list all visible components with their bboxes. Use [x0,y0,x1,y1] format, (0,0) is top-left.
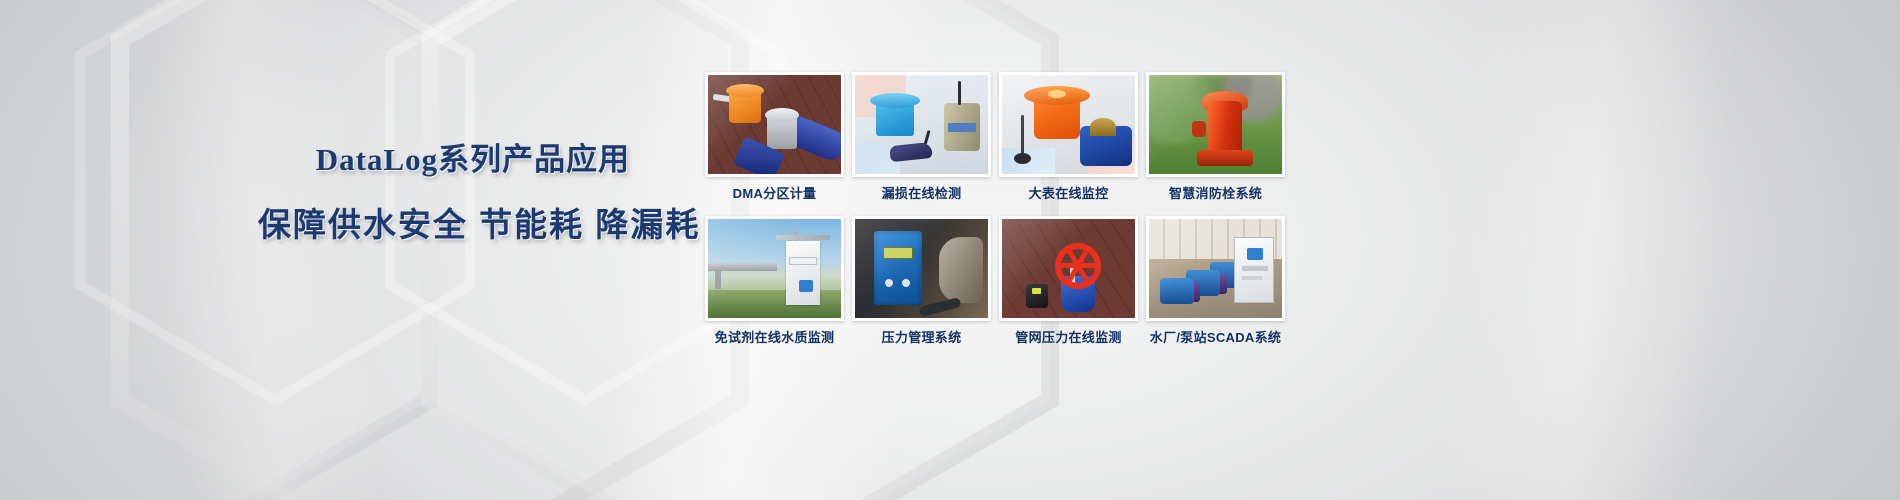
caption-scada-system: 水厂/泵站SCADA系统 [1150,329,1281,346]
grid-cell-scada-system[interactable]: 水厂/泵站SCADA系统 [1146,216,1285,346]
image-dma-metering [708,75,841,174]
pump-shape-1 [1160,278,1194,304]
caption-reagent-free-water-quality: 免试剂在线水质监测 [715,329,835,346]
thumbnail-smart-hydrant[interactable] [1146,72,1285,177]
cabinet-label-shape [1242,266,1268,271]
caption-leak-detection: 漏损在线检测 [882,185,962,202]
cabinet-sublabel-shape [1242,276,1262,280]
blue-control-panel-shape [874,231,922,305]
bridge-shape [708,263,777,272]
orange-sensor-cap-shape [729,89,761,123]
cabinet-logo-shape [799,280,813,292]
caption-pressure-management: 压力管理系统 [882,329,962,346]
image-smart-hydrant [1149,75,1282,174]
thumbnail-reagent-free-water-quality[interactable] [705,216,844,321]
image-scada-system [1149,219,1282,318]
image-network-pressure-monitoring [1002,219,1135,318]
blue-dome-sensor-shape [876,100,914,136]
cylindrical-logger-shape [944,103,980,151]
lawn-shape [708,290,841,318]
data-logger-shape [889,142,932,162]
flow-meter-shape [767,115,797,149]
grid-cell-dma-metering[interactable]: DMA分区计量 [705,72,844,202]
pressure-logger-shape [1026,284,1048,308]
grid-row-1: DMA分区计量 漏损在线检测 [705,72,1285,202]
pipework-shape [939,237,983,303]
panel-display-shape [883,247,913,259]
hydrant-base-shape [1197,150,1253,166]
hose-shape [918,297,961,317]
caption-smart-hydrant: 智慧消防栓系统 [1169,185,1262,202]
headline-line-primary: DataLog系列产品应用 [258,140,688,180]
grid-cell-smart-hydrant[interactable]: 智慧消防栓系统 [1146,72,1285,202]
application-thumbnail-grid: DMA分区计量 漏损在线检测 [705,72,1285,360]
thumbnail-network-pressure-monitoring[interactable] [999,216,1138,321]
image-reagent-free-water-quality [708,219,841,318]
image-pressure-management [855,219,988,318]
caption-network-pressure-monitoring: 管网压力在线监测 [1015,329,1121,346]
product-application-banner: DataLog系列产品应用 保障供水安全 节能耗 降漏耗 DMA分区计量 [0,0,1900,500]
orange-module-shape [1034,95,1080,139]
headline-block: DataLog系列产品应用 保障供水安全 节能耗 降漏耗 [258,140,688,247]
antenna-shape [1021,115,1024,155]
monitoring-cabinet-shape [786,241,820,305]
light-band-right [1433,0,1747,500]
thumbnail-leak-detection[interactable] [852,72,991,177]
blue-water-meter-shape [1080,126,1132,166]
thumbnail-dma-metering[interactable] [705,72,844,177]
scada-cabinet-shape [1234,237,1274,303]
grid-cell-pressure-management[interactable]: 压力管理系统 [852,216,991,346]
thumbnail-pressure-management[interactable] [852,216,991,321]
panel-knob-left [885,279,893,287]
cabinet-sign-shape [789,257,817,265]
crossbar-shape [776,235,830,240]
panel-knob-right [902,279,910,287]
cabinet-logo-shape [1247,248,1263,260]
image-bulk-meter-monitoring [1002,75,1135,174]
grid-cell-bulk-meter-monitoring[interactable]: 大表在线监控 [999,72,1138,202]
thumbnail-scada-system[interactable] [1146,216,1285,321]
grid-row-2: 免试剂在线水质监测 压力管理系统 [705,216,1285,346]
red-handwheel-shape [1055,243,1101,289]
light-band-left [133,0,387,500]
grid-cell-network-pressure-monitoring[interactable]: 管网压力在线监测 [999,216,1138,346]
grid-cell-leak-detection[interactable]: 漏损在线检测 [852,72,991,202]
headline-line-secondary: 保障供水安全 节能耗 降漏耗 [258,203,688,247]
caption-bulk-meter-monitoring: 大表在线监控 [1029,185,1109,202]
hydrant-outlet-shape [1192,121,1206,137]
image-leak-detection [855,75,988,174]
grid-cell-reagent-free-water-quality[interactable]: 免试剂在线水质监测 [705,216,844,346]
caption-dma-metering: DMA分区计量 [733,185,817,202]
thumbnail-bulk-meter-monitoring[interactable] [999,72,1138,177]
